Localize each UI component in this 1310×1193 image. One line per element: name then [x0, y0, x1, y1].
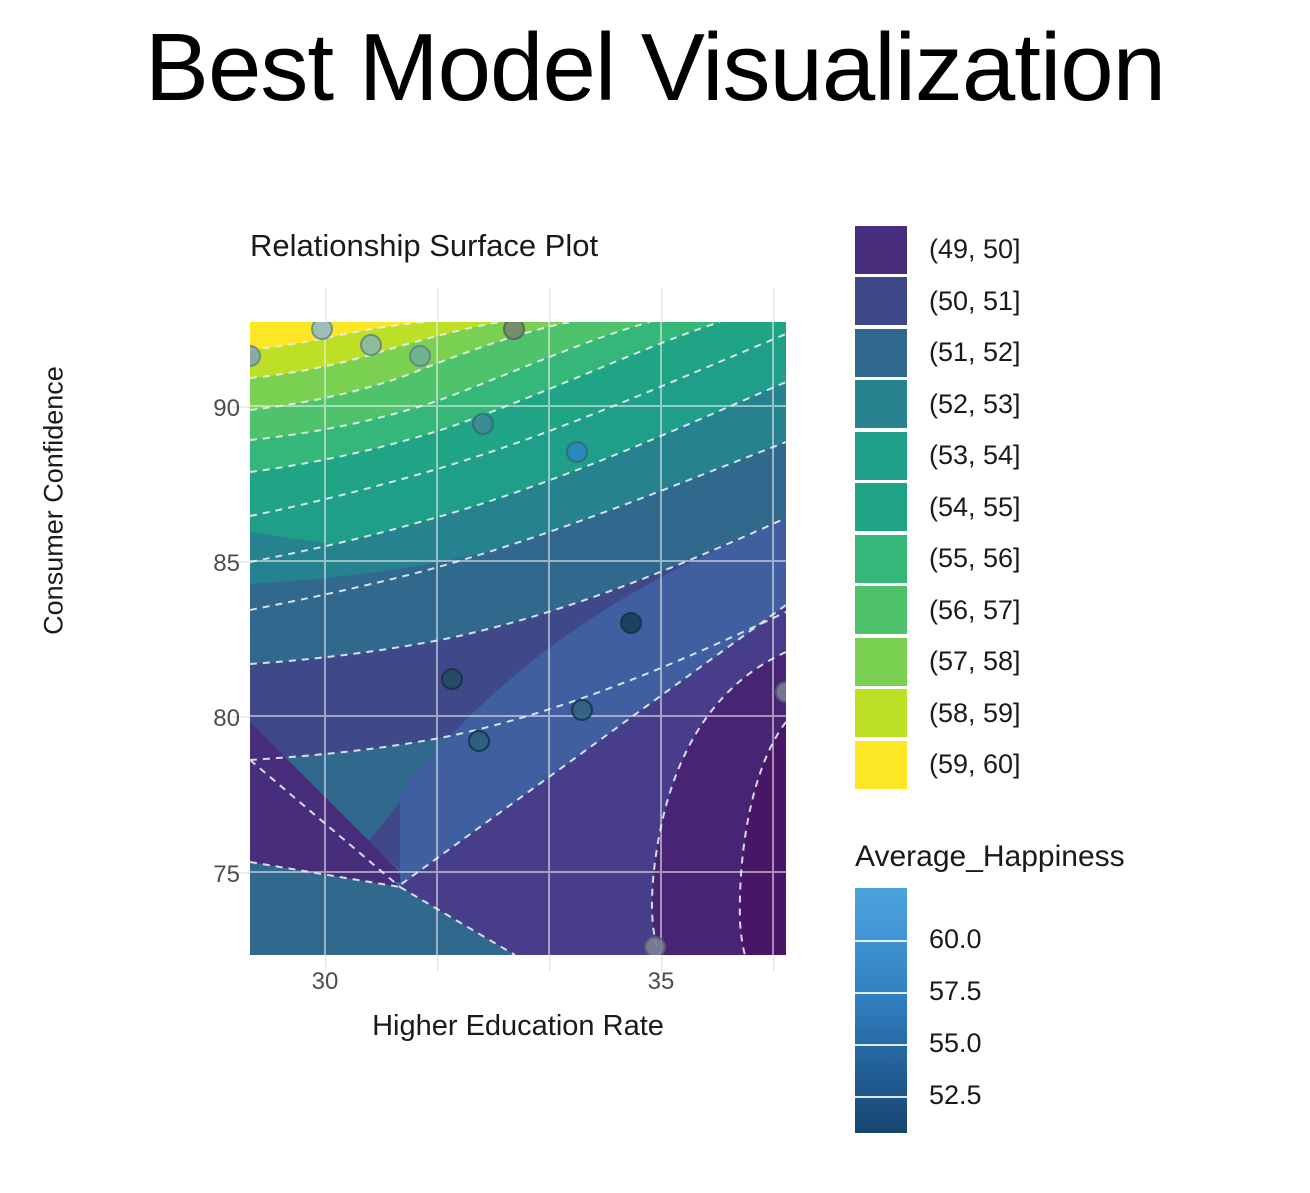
gridline-x-minor-3-extension: [773, 288, 775, 322]
legend-item-label: (50, 51]: [929, 286, 1021, 317]
y-tick-label: 80: [180, 705, 240, 733]
y-axis-ticks: 90 85 80 75: [178, 322, 240, 955]
legend-swatch-icon: [855, 741, 907, 789]
legend-item-label: (54, 55]: [929, 492, 1021, 523]
colorbar-tick: [855, 940, 907, 942]
scatter-point: [645, 937, 665, 955]
legend-swatch-icon: [855, 329, 907, 377]
legend-item[interactable]: (54, 55]: [855, 482, 1155, 534]
legend-item[interactable]: (50, 51]: [855, 276, 1155, 328]
legend-swatch-icon: [855, 380, 907, 428]
gridline-x-30-extension: [325, 288, 327, 322]
legend-item-label: (58, 59]: [929, 698, 1021, 729]
colorbar-tick-label: 57.5: [929, 976, 982, 1007]
legend-item[interactable]: (59, 60]: [855, 739, 1155, 791]
contour-bands: [250, 322, 786, 955]
legend-swatch-icon: [855, 689, 907, 737]
scatter-point: [312, 322, 332, 339]
plot-panel: [250, 322, 786, 955]
legend-item-label: (53, 54]: [929, 440, 1021, 471]
legend-item-label: (57, 58]: [929, 646, 1021, 677]
scatter-point: [567, 442, 587, 462]
scatter-point: [621, 613, 641, 633]
colorbar-tick-label: 55.0: [929, 1028, 982, 1059]
x-tick-label: 35: [621, 968, 701, 996]
scatter-point: [504, 322, 524, 339]
colorbar-legend: Average_Happiness 60.0 57.5 55.0 52.5: [855, 840, 1185, 1138]
legend-swatch-icon: [855, 483, 907, 531]
colorbar-tick-label: 60.0: [929, 924, 982, 955]
figure-bottom-crop: [845, 1133, 1205, 1193]
contour-bin-legend: (49, 50] (50, 51] (51, 52] (52, 53] (53,…: [855, 224, 1155, 791]
legend-item-label: (52, 53]: [929, 389, 1021, 420]
legend-swatch-icon: [855, 638, 907, 686]
x-axis-label: Higher Education Rate: [250, 1010, 786, 1043]
legend-item[interactable]: (52, 53]: [855, 379, 1155, 431]
legend-item[interactable]: (57, 58]: [855, 636, 1155, 688]
legend-item[interactable]: (56, 57]: [855, 585, 1155, 637]
gridline-x-minor-2-extension: [549, 288, 551, 322]
contour-svg: [250, 322, 786, 955]
legend-item-label: (55, 56]: [929, 543, 1021, 574]
scatter-point: [442, 669, 462, 689]
legend-item[interactable]: (58, 59]: [855, 688, 1155, 740]
legend-item-label: (56, 57]: [929, 595, 1021, 626]
legend-item-label: (59, 60]: [929, 749, 1021, 780]
legend-swatch-icon: [855, 226, 907, 274]
scatter-point: [410, 346, 430, 366]
y-tick-label: 85: [180, 550, 240, 578]
page-title: Best Model Visualization: [0, 18, 1310, 119]
colorbar-tick: [855, 1044, 907, 1046]
legend-item-label: (51, 52]: [929, 337, 1021, 368]
legend-swatch-icon: [855, 535, 907, 583]
scatter-point: [572, 700, 592, 720]
plot-title: Relationship Surface Plot: [250, 228, 598, 264]
scatter-point: [473, 414, 493, 434]
colorbar-gradient[interactable]: [855, 888, 907, 1133]
legend-swatch-icon: [855, 277, 907, 325]
contour-surface: [250, 322, 786, 955]
legend-swatch-icon: [855, 432, 907, 480]
scatter-point: [469, 731, 489, 751]
colorbar-tick: [855, 992, 907, 994]
x-axis-ticks: 30 35: [250, 968, 786, 1002]
gridline-x-35-extension: [661, 288, 663, 322]
chart-figure: Relationship Surface Plot: [0, 200, 1310, 1142]
legend-item-label: (49, 50]: [929, 234, 1021, 265]
gridline-x-minor-1-extension: [437, 288, 439, 322]
legend-item[interactable]: (49, 50]: [855, 224, 1155, 276]
legend-item[interactable]: (51, 52]: [855, 327, 1155, 379]
y-axis-label: Consumer Confidence: [39, 351, 70, 651]
x-tick-label: 30: [285, 968, 365, 996]
y-tick-label: 75: [180, 861, 240, 889]
scatter-point: [361, 335, 381, 355]
legend-item[interactable]: (55, 56]: [855, 533, 1155, 585]
colorbar-tick: [855, 1096, 907, 1098]
colorbar-tick-label: 52.5: [929, 1080, 982, 1111]
legend-item[interactable]: (53, 54]: [855, 430, 1155, 482]
colorbar-title: Average_Happiness: [855, 840, 1185, 874]
legend-swatch-icon: [855, 586, 907, 634]
y-tick-label: 90: [180, 395, 240, 423]
